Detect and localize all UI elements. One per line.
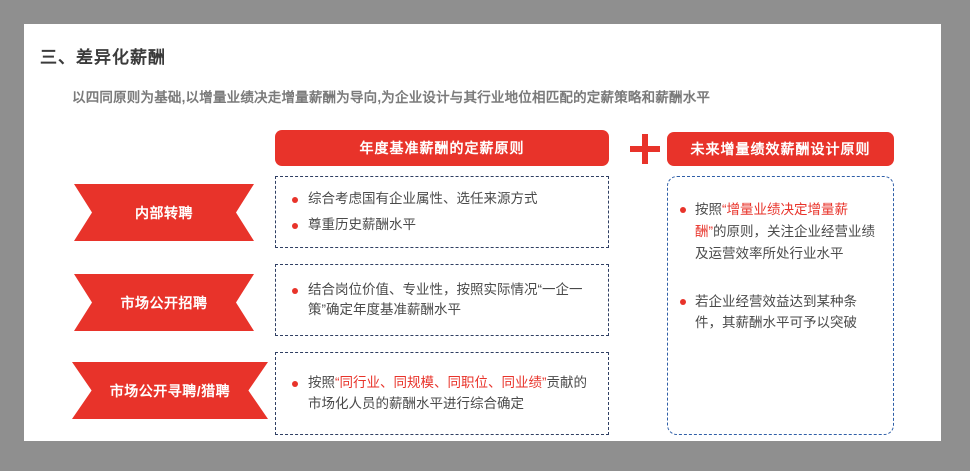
bullet-dot-icon (292, 197, 298, 203)
plus-icon (630, 134, 660, 164)
ribbon-internal-transfer[interactable]: 内部转聘 (74, 184, 254, 241)
bullet-list: 综合考虑国有企业属性、选任来源方式 尊重历史薪酬水平 (284, 187, 596, 237)
list-item: 若企业经营效益达到某种条件，其薪酬水平可予以突破 (674, 291, 879, 335)
text-segment: 按照 (695, 202, 722, 217)
bullet-dot-icon (292, 288, 298, 294)
text-segment: 按照 (308, 375, 335, 390)
list-item-text: 综合考虑国有企业属性、选任来源方式 (308, 189, 596, 209)
page-title: 三、差异化薪酬 (40, 43, 166, 68)
note-box-open-market-recruitment: 结合岗位价值、专业性，按照实际情况“一企一策”确定年度基准薪酬水平 (275, 264, 609, 336)
bullet-dot-icon (680, 299, 686, 305)
bullet-dot-icon (680, 207, 686, 213)
list-item: 结合岗位价值、专业性，按照实际情况“一企一策”确定年度基准薪酬水平 (284, 280, 596, 321)
column-header-annual-base-pay[interactable]: 年度基准薪酬的定薪原则 (275, 130, 609, 166)
list-item-text: 按照“同行业、同规模、同职位、同业绩”贡献的市场化人员的薪酬水平进行综合确定 (308, 373, 596, 414)
list-item: 综合考虑国有企业属性、选任来源方式 (284, 189, 596, 209)
slide-canvas: 三、差异化薪酬 以四同原则为基础,以增量业绩决走增量薪酬为导向,为企业设计与其行… (24, 24, 941, 441)
list-item: 按照“同行业、同规模、同职位、同业绩”贡献的市场化人员的薪酬水平进行综合确定 (284, 373, 596, 414)
list-item: 按照“增量业绩决定增量薪酬”的原则，关注企业经营业绩及运营效率所处行业水平 (674, 199, 879, 265)
bullet-list: 按照“同行业、同规模、同职位、同业绩”贡献的市场化人员的薪酬水平进行综合确定 (284, 371, 596, 416)
list-item: 尊重历史薪酬水平 (284, 215, 596, 235)
note-box-market-search-headhunting: 按照“同行业、同规模、同职位、同业绩”贡献的市场化人员的薪酬水平进行综合确定 (275, 352, 609, 435)
page-subtitle: 以四同原则为基础,以增量业绩决走增量薪酬为导向,为企业设计与其行业地位相匹配的定… (72, 86, 710, 106)
list-item-text: 按照“增量业绩决定增量薪酬”的原则，关注企业经营业绩及运营效率所处行业水平 (695, 199, 879, 265)
ribbon-market-search-headhunting[interactable]: 市场公开寻聘/猎聘 (72, 362, 268, 419)
list-item-text: 结合岗位价值、专业性，按照实际情况“一企一策”确定年度基准薪酬水平 (308, 280, 596, 321)
bullet-dot-icon (292, 381, 298, 387)
bullet-list: 按照“增量业绩决定增量薪酬”的原则，关注企业经营业绩及运营效率所处行业水平 若企… (674, 199, 879, 334)
ribbon-open-market-recruitment[interactable]: 市场公开招聘 (74, 274, 254, 331)
list-item-text: 尊重历史薪酬水平 (308, 215, 596, 235)
bullet-dot-icon (292, 223, 298, 229)
list-item-text: 若企业经营效益达到某种条件，其薪酬水平可予以突破 (695, 291, 879, 335)
column-header-future-incremental-pay[interactable]: 未来增量绩效薪酬设计原则 (667, 132, 894, 166)
text-segment: 的原则，关注企业经营业绩及运营效率所处行业水平 (695, 224, 875, 261)
panel-future-incremental-pay: 按照“增量业绩决定增量薪酬”的原则，关注企业经营业绩及运营效率所处行业水平 若企… (667, 176, 894, 435)
bullet-list: 结合岗位价值、专业性，按照实际情况“一企一策”确定年度基准薪酬水平 (284, 278, 596, 323)
note-box-internal-transfer: 综合考虑国有企业属性、选任来源方式 尊重历史薪酬水平 (275, 176, 609, 248)
highlighted-text-segment: “同行业、同规模、同职位、同业绩” (335, 375, 547, 390)
